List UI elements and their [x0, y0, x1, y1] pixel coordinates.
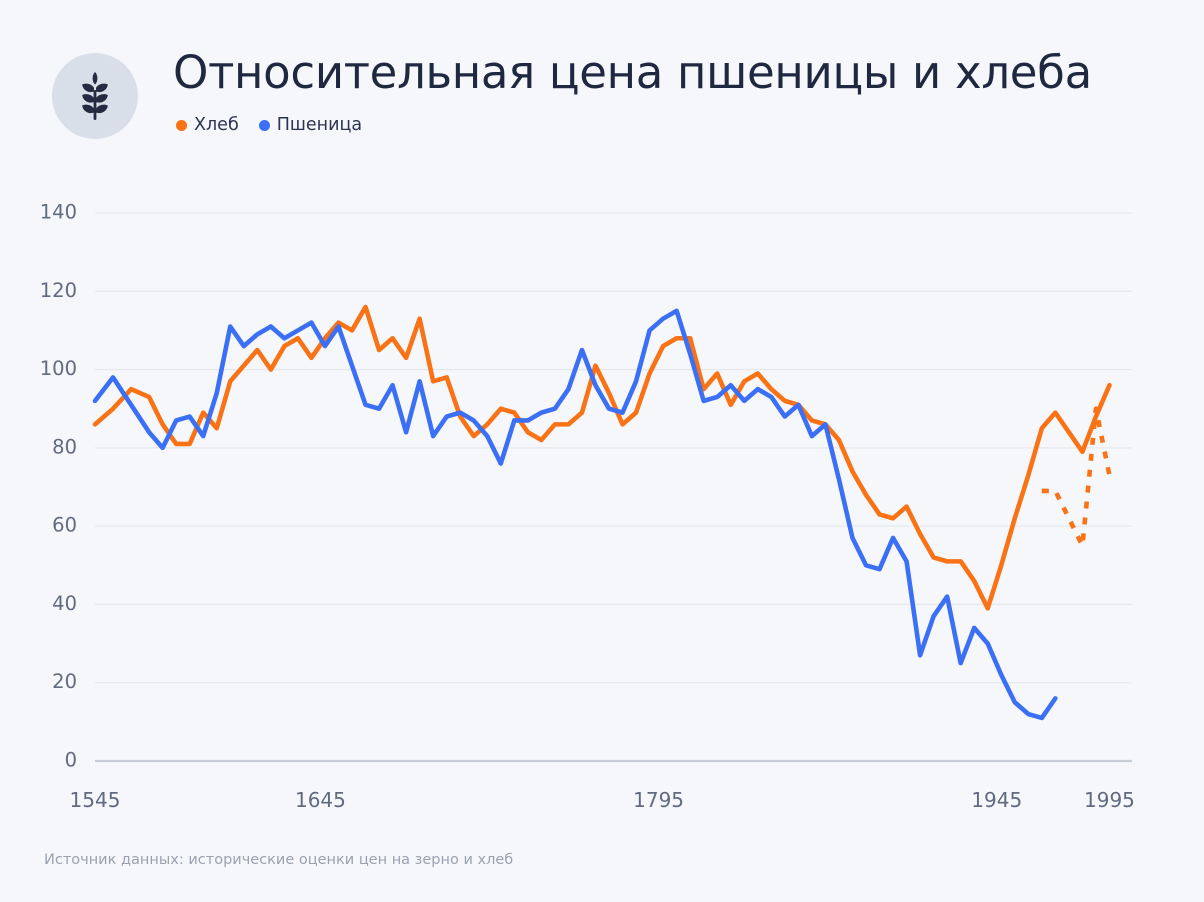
- x-axis-tick-label: 1995: [1084, 788, 1135, 812]
- x-axis-tick-label: 1945: [971, 788, 1022, 812]
- y-axis-tick-label: 120: [40, 279, 77, 302]
- series-layer: [95, 307, 1109, 718]
- y-axis-tick-label: 20: [52, 670, 77, 693]
- x-axis-tick-label: 1795: [633, 788, 684, 812]
- x-axis-tick-label: 1645: [295, 788, 346, 812]
- x-axis-ticks: 15451645179519451995: [70, 788, 1135, 812]
- y-axis-tick-label: 0: [65, 749, 77, 772]
- y-axis-tick-label: 60: [52, 514, 77, 537]
- y-axis-tick-label: 40: [52, 592, 77, 615]
- line-chart-svg: 020406080100120140 15451645179519451995: [0, 0, 1204, 902]
- y-axis-tick-label: 100: [40, 357, 77, 380]
- chart-canvas: 020406080100120140 15451645179519451995: [0, 0, 1204, 902]
- x-axis-tick-label: 1545: [70, 788, 121, 812]
- source-note: Источник данных: исторические оценки цен…: [44, 852, 513, 868]
- series-line-1: [95, 307, 1109, 608]
- y-axis-ticks: 020406080100120140: [40, 201, 77, 772]
- y-axis-tick-label: 140: [40, 201, 77, 224]
- chart-page: Относительная цена пшеницы и хлеба Хлеб …: [0, 0, 1204, 902]
- grid-layer: [95, 213, 1132, 761]
- y-axis-tick-label: 80: [52, 435, 77, 458]
- series-line-2: [1042, 409, 1110, 546]
